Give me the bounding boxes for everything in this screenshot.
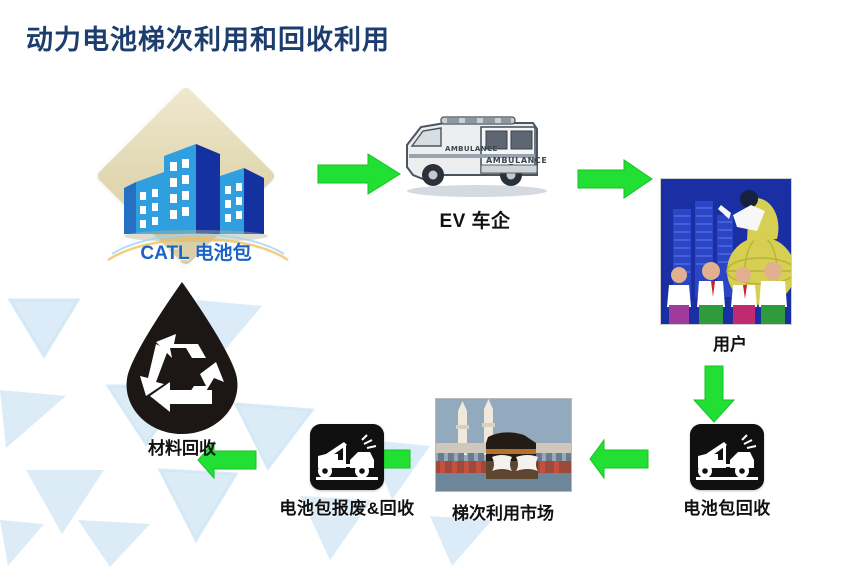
- page-title: 动力电池梯次利用和回收利用: [26, 18, 390, 57]
- node-scrap-label: 电池包报废&回收: [262, 494, 432, 519]
- node-market[interactable]: 梯次利用市场: [418, 398, 588, 524]
- ambulance-van-icon: AMBULANCE AMBULANCE: [385, 105, 565, 200]
- node-market-label: 梯次利用市场: [418, 499, 588, 524]
- node-ev-label: EV 车企: [385, 206, 565, 233]
- node-pack-recycle-label: 电池包回收: [652, 494, 802, 519]
- recycle-droplet-icon: [112, 278, 252, 448]
- arrow-ev-to-user: [576, 158, 654, 200]
- van-side-text: AMBULANCE: [445, 145, 498, 153]
- people-crowd-globe-icon: [660, 178, 792, 325]
- node-material-recovery[interactable]: 材料回收: [92, 278, 272, 459]
- mosque-market-icon: [435, 398, 572, 492]
- arrow-user-to-pack-recycle: [692, 364, 736, 424]
- node-user-label: 用户: [660, 330, 800, 355]
- node-scrap-recycle[interactable]: 电池包报废&回收: [262, 424, 432, 519]
- tow-truck-icon: [310, 424, 384, 490]
- node-pack-recycle[interactable]: 电池包回收: [652, 424, 802, 519]
- node-user[interactable]: 用户: [660, 178, 800, 355]
- tow-truck-icon: [690, 424, 764, 490]
- arrow-pack-recycle-to-market: [588, 438, 650, 480]
- node-material-label: 材料回收: [92, 434, 272, 459]
- van-rear-text: AMBULANCE: [486, 156, 547, 165]
- node-ev-manufacturer[interactable]: AMBULANCE AMBULANCE EV 车企: [385, 105, 565, 233]
- node-catl-label: CATL 电池包: [96, 238, 296, 265]
- slide-canvas: 动力电池梯次利用和回收利用: [0, 0, 852, 567]
